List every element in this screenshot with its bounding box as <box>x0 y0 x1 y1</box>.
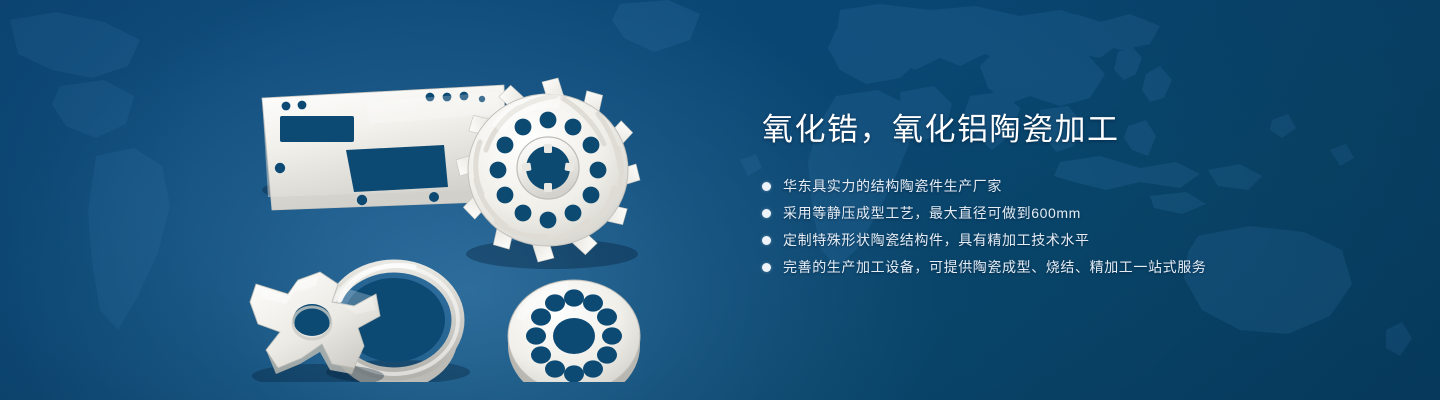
bullet-text: 采用等静压成型工艺，最大直径可做到600mm <box>783 201 1081 225</box>
bullet-dot-icon <box>762 209 771 218</box>
bullet-text: 华东具实力的结构陶瓷件生产厂家 <box>783 174 1002 198</box>
hero-banner: 氧化锆，氧化铝陶瓷加工 华东具实力的结构陶瓷件生产厂家 采用等静压成型工艺，最大… <box>0 0 1440 400</box>
banner-title: 氧化锆，氧化铝陶瓷加工 <box>762 110 1382 150</box>
bullet-item: 完善的生产加工设备，可提供陶瓷成型、烧结、精加工一站式服务 <box>762 255 1382 279</box>
ceramic-perforated-disc <box>508 280 642 382</box>
banner-text-block: 氧化锆，氧化铝陶瓷加工 华东具实力的结构陶瓷件生产厂家 采用等静压成型工艺，最大… <box>762 110 1382 282</box>
bullet-text: 完善的生产加工设备，可提供陶瓷成型、烧结、精加工一站式服务 <box>783 255 1206 279</box>
product-image-group <box>236 42 656 382</box>
banner-bullet-list: 华东具实力的结构陶瓷件生产厂家 采用等静压成型工艺，最大直径可做到600mm 定… <box>762 174 1382 279</box>
bullet-item: 华东具实力的结构陶瓷件生产厂家 <box>762 174 1382 198</box>
bullet-item: 采用等静压成型工艺，最大直径可做到600mm <box>762 201 1382 225</box>
bullet-dot-icon <box>762 263 771 272</box>
bullet-dot-icon <box>762 236 771 245</box>
bullet-text: 定制特殊形状陶瓷结构件，具有精加工技术水平 <box>783 228 1090 252</box>
bullet-item: 定制特殊形状陶瓷结构件，具有精加工技术水平 <box>762 228 1382 252</box>
ceramic-mounting-plate <box>262 85 506 210</box>
bullet-dot-icon <box>762 182 771 191</box>
